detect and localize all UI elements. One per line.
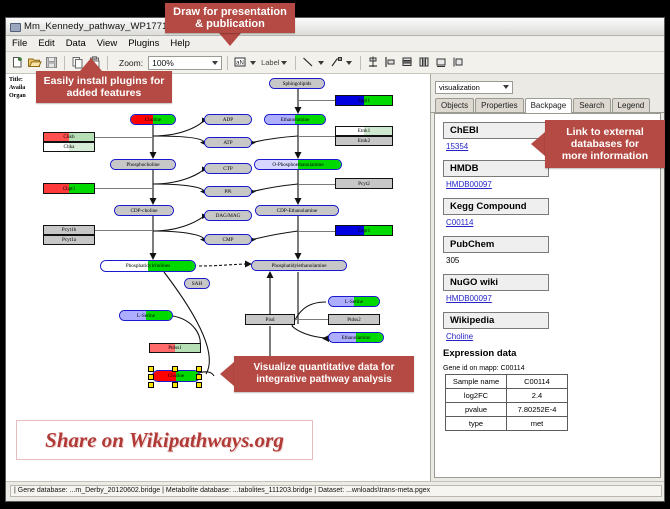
annotation-draw-line2: & publication — [195, 18, 265, 30]
gene-node-sgpl1[interactable]: Sgpl1 — [335, 95, 393, 106]
annotation-plugins-line2: added features — [67, 87, 142, 99]
edge-ptdss2 — [295, 319, 329, 320]
toolbar-separator-5 — [360, 56, 361, 70]
annotation-draw: Draw for presentation & publication — [165, 3, 295, 33]
menu-data[interactable]: Data — [65, 38, 87, 49]
interaction-dropdown[interactable] — [329, 55, 355, 70]
tab-backpage[interactable]: Backpage — [525, 98, 573, 113]
menu-plugins[interactable]: Plugins — [127, 38, 160, 49]
metabolite-node-sphingolipids[interactable]: Sphingolipids — [269, 78, 325, 89]
annotation-draw-arrow — [219, 33, 241, 46]
node-label: Etnk1 — [358, 128, 370, 134]
edge-cept1-to-chain — [298, 231, 335, 232]
expression-table: Sample name C00114 log2FC 2.4 pvalue 7.8… — [445, 374, 568, 431]
cell-value: 7.80252E-4 — [507, 403, 568, 417]
node-label: ADP — [223, 117, 233, 123]
metabolite-node-ppi[interactable]: PPi — [204, 186, 252, 197]
visualization-combobox[interactable]: visualization — [435, 81, 513, 94]
section-heading-nugo: NuGO wiki — [443, 274, 549, 291]
annotation-draw-line1: Draw for presentation — [173, 6, 287, 18]
gene-node-cept1[interactable]: Cept1 — [335, 225, 393, 236]
edge-sgpl1-to-chain — [298, 100, 335, 101]
chevron-down-icon — [212, 61, 218, 65]
menu-bar: File Edit Data View Plugins Help — [6, 36, 664, 52]
table-row: Sample name C00114 — [446, 375, 568, 389]
gene-node-etnk2[interactable]: Etnk2 — [335, 136, 393, 146]
gene-node-ptdss1[interactable]: Ptdss1 — [149, 343, 201, 353]
table-row: log2FC 2.4 — [446, 389, 568, 403]
node-label: SAH — [192, 281, 202, 287]
cell-value: met — [507, 417, 568, 431]
stack-icon[interactable] — [400, 55, 415, 70]
node-label: Ethanolamine — [342, 335, 371, 341]
toolbar-separator-4 — [295, 56, 296, 70]
canvas-meta-title: Title: — [9, 76, 26, 84]
app-icon — [9, 21, 20, 32]
metabolite-node-ethanolamine[interactable]: Ethanolamine — [264, 114, 326, 125]
cell-key: type — [446, 417, 507, 431]
line-dropdown[interactable] — [301, 55, 327, 70]
edge-chk-to-chain — [95, 137, 153, 138]
chevron-down-icon[interactable] — [346, 61, 352, 65]
node-label: CMP — [223, 237, 234, 243]
toolbar-separator-1 — [64, 56, 65, 70]
node-label: CDP-choline — [130, 208, 157, 214]
label-dropdown[interactable]: Label — [261, 58, 290, 67]
metabolite-node-o-phosphoethanolamine[interactable]: O-Phosphoethanolamine — [254, 159, 342, 170]
node-label: Chkb — [63, 134, 74, 140]
gene-node-chka[interactable]: Chka — [43, 142, 95, 152]
selection-handle[interactable] — [196, 366, 202, 372]
metabolite-node-l-serine-right[interactable]: L-Serine — [328, 296, 380, 307]
annotation-links: Link to external databases for more info… — [545, 120, 665, 168]
new-icon[interactable] — [10, 55, 25, 70]
visualization-row: visualization — [431, 74, 664, 97]
line-icon[interactable] — [301, 55, 316, 70]
side-panel-tabs: Objects Properties Backpage Search Legen… — [431, 97, 664, 113]
selection-handle[interactable] — [148, 366, 154, 372]
datanode-dropdown[interactable]: aN — [233, 55, 259, 70]
distribute-icon[interactable] — [417, 55, 432, 70]
gene-node-etnk1[interactable]: Etnk1 — [335, 126, 393, 136]
svg-text:aN: aN — [236, 61, 244, 67]
toolbar-separator-3 — [227, 56, 228, 70]
open-icon[interactable] — [27, 55, 42, 70]
toolbar-separator-2 — [107, 56, 108, 70]
chevron-down-icon[interactable] — [318, 61, 324, 65]
gene-id-on-mapp: Gene id on mapp: C00114 — [443, 365, 652, 372]
metabolite-node-phosphatidylethanolamine[interactable]: Phosphatidylethanolamine — [251, 260, 347, 271]
node-label: Chpt1 — [63, 186, 76, 192]
edge-etnk-to-chain — [298, 136, 335, 137]
node-label: Phosphocholine — [126, 162, 159, 168]
canvas-meta: Title: Availa Organ — [9, 76, 26, 100]
menu-file[interactable]: File — [11, 38, 28, 49]
annotation-visualize: Visualize quantitative data for integrat… — [234, 356, 414, 392]
node-label: Phosphatidylethanolamine — [271, 263, 326, 269]
zoom-combobox[interactable]: 100% — [148, 56, 222, 70]
link-hmdb[interactable]: HMDB00097 — [446, 180, 652, 189]
metabolite-node-phosphatidylcholines[interactable]: Phosphatidylcholines — [100, 260, 196, 272]
gene-node-pisd[interactable]: Pisd — [245, 314, 295, 325]
node-label: PPi — [224, 189, 231, 195]
node-label: Choline — [145, 117, 161, 123]
node-label: Sgpl1 — [358, 98, 370, 104]
selection-handle[interactable] — [196, 382, 202, 388]
align-center-icon[interactable] — [366, 55, 381, 70]
zoom-value: 100% — [152, 58, 174, 68]
node-label: Etnk2 — [358, 138, 370, 144]
gene-node-pcyt1b[interactable]: Pcyt1b — [43, 225, 95, 235]
metabolite-node-cdp-ethanolamine[interactable]: CDP-Ethanolamine — [255, 205, 339, 216]
annotation-share: Share on Wikipathways.org — [16, 420, 313, 460]
canvas-meta-available: Availa — [9, 84, 26, 92]
gene-node-pcyt1a[interactable]: Pcyt1a — [43, 235, 95, 245]
tab-legend[interactable]: Legend — [612, 98, 651, 112]
node-label: CDP-Ethanolamine — [277, 208, 318, 214]
visualization-value: visualization — [439, 83, 480, 92]
node-label: Pisd — [266, 317, 275, 323]
node-label: Ptdss1 — [168, 345, 182, 351]
metabolite-node-cmp[interactable]: CMP — [204, 234, 252, 245]
cell-key: Sample name — [446, 375, 507, 389]
node-label: Ethanolamine — [281, 117, 310, 123]
annotation-share-text: Share on Wikipathways.org — [45, 428, 284, 453]
link-nugo[interactable]: HMDB00097 — [446, 294, 652, 303]
save-icon[interactable] — [44, 55, 59, 70]
annotation-links-line3: more information — [562, 150, 648, 162]
cell-key: pvalue — [446, 403, 507, 417]
link-kegg[interactable]: C00114 — [446, 218, 652, 227]
menu-edit[interactable]: Edit — [37, 38, 55, 49]
annotation-visualize-line1: Visualize quantitative data for — [254, 362, 395, 374]
gene-node-chkb[interactable]: Chkb — [43, 132, 95, 142]
cell-key: log2FC — [446, 389, 507, 403]
node-label: Sphingolipids — [283, 81, 312, 87]
selection-handle[interactable] — [148, 382, 154, 388]
section-heading-pubchem: PubChem — [443, 236, 549, 253]
metabolite-node-sah[interactable]: SAH — [184, 278, 210, 289]
metabolite-node-ctp[interactable]: CTP — [204, 163, 252, 174]
chevron-down-icon — [503, 85, 509, 89]
node-label: DAG/MAG — [216, 213, 241, 219]
align-left-icon[interactable] — [383, 55, 398, 70]
node-label: O-Phosphoethanolamine — [272, 162, 323, 168]
selection-handle[interactable] — [172, 382, 178, 388]
canvas-meta-organism: Organ — [9, 92, 26, 100]
interaction-icon[interactable] — [329, 55, 344, 70]
value-pubchem: 305 — [446, 256, 652, 265]
node-label: Pcyt2 — [358, 181, 370, 187]
metabolite-node-dagmag[interactable]: DAG/MAG — [204, 210, 252, 221]
section-heading-kegg: Kegg Compound — [443, 198, 549, 215]
cell-value: C00114 — [507, 375, 568, 389]
annotation-links-arrow — [531, 132, 545, 156]
link-wikipedia[interactable]: Choline — [446, 332, 652, 341]
status-bar: | Gene database: ...m_Derby_20120602.bri… — [6, 481, 664, 499]
cell-value: 2.4 — [507, 389, 568, 403]
expression-data-title: Expression data — [443, 348, 652, 359]
gene-node-pcyt2[interactable]: Pcyt2 — [335, 178, 393, 189]
section-heading-wikipedia: Wikipedia — [443, 312, 549, 329]
edge-chpt1-to-chain — [95, 188, 153, 189]
table-row: type met — [446, 417, 568, 431]
selection-handle[interactable] — [172, 366, 178, 372]
node-label: L-Serine — [137, 313, 155, 319]
metabolite-node-choline-top[interactable]: Choline — [130, 114, 176, 125]
annotation-plugins: Easily install plugins for added feature… — [36, 71, 172, 103]
annotation-plugins-line1: Easily install plugins for — [44, 75, 165, 87]
metabolite-node-phosphocholine[interactable]: Phosphocholine — [110, 159, 176, 170]
gene-node-chpt1[interactable]: Chpt1 — [43, 183, 95, 194]
node-label: L-Serine — [345, 299, 363, 305]
common-width-icon[interactable] — [434, 55, 449, 70]
label-dropdown-label: Label — [261, 58, 279, 67]
node-label: Ptdss2 — [347, 317, 361, 323]
title-bar: Mm_Kennedy_pathway_WP1771_45176.gpml — [6, 18, 664, 36]
annotation-links-line2: databases for — [571, 138, 639, 150]
tab-objects[interactable]: Objects — [435, 98, 474, 112]
edge-pcyt2-to-chain — [298, 184, 335, 185]
common-height-icon[interactable] — [451, 55, 466, 70]
annotation-plugins-arrow — [80, 58, 102, 71]
menu-help[interactable]: Help — [169, 38, 191, 49]
datanode-icon[interactable]: aN — [233, 55, 248, 70]
node-label: Chka — [64, 144, 75, 150]
tab-properties[interactable]: Properties — [475, 98, 523, 112]
node-label: CTP — [223, 166, 233, 172]
table-row: pvalue 7.80252E-4 — [446, 403, 568, 417]
annotation-visualize-line2: integrative pathway analysis — [256, 374, 392, 386]
gene-node-ptdss2[interactable]: Ptdss2 — [328, 314, 380, 325]
node-label: Phosphatidylcholines — [126, 263, 170, 269]
node-label: Choline — [168, 373, 184, 379]
node-label: Cept1 — [358, 228, 370, 234]
annotation-links-line1: Link to external — [566, 126, 644, 138]
annotation-visualize-arrow — [220, 362, 234, 386]
metabolite-node-cdp-choline[interactable]: CDP-choline — [114, 205, 174, 216]
metabolite-node-ethanolamine-right[interactable]: Ethanolamine — [328, 332, 384, 343]
section-heading-hmdb: HMDB — [443, 160, 549, 177]
metabolite-node-l-serine-left[interactable]: L-Serine — [119, 310, 173, 321]
selection-handle[interactable] — [196, 374, 202, 380]
node-label: ATP — [223, 140, 232, 146]
selection-handle[interactable] — [148, 374, 154, 380]
chevron-down-icon[interactable] — [250, 61, 256, 65]
node-label: Pcyt1a — [62, 237, 76, 243]
metabolite-node-atp[interactable]: ATP — [204, 137, 252, 148]
edge-pcyt1-to-chain — [95, 230, 153, 231]
status-text: | Gene database: ...m_Derby_20120602.bri… — [10, 485, 662, 497]
tab-search[interactable]: Search — [573, 98, 610, 112]
chevron-down-icon[interactable] — [281, 61, 287, 65]
node-label: Pcyt1b — [62, 227, 76, 233]
metabolite-node-adp[interactable]: ADP — [204, 114, 252, 125]
zoom-label: Zoom: — [119, 58, 143, 68]
menu-view[interactable]: View — [96, 38, 118, 49]
